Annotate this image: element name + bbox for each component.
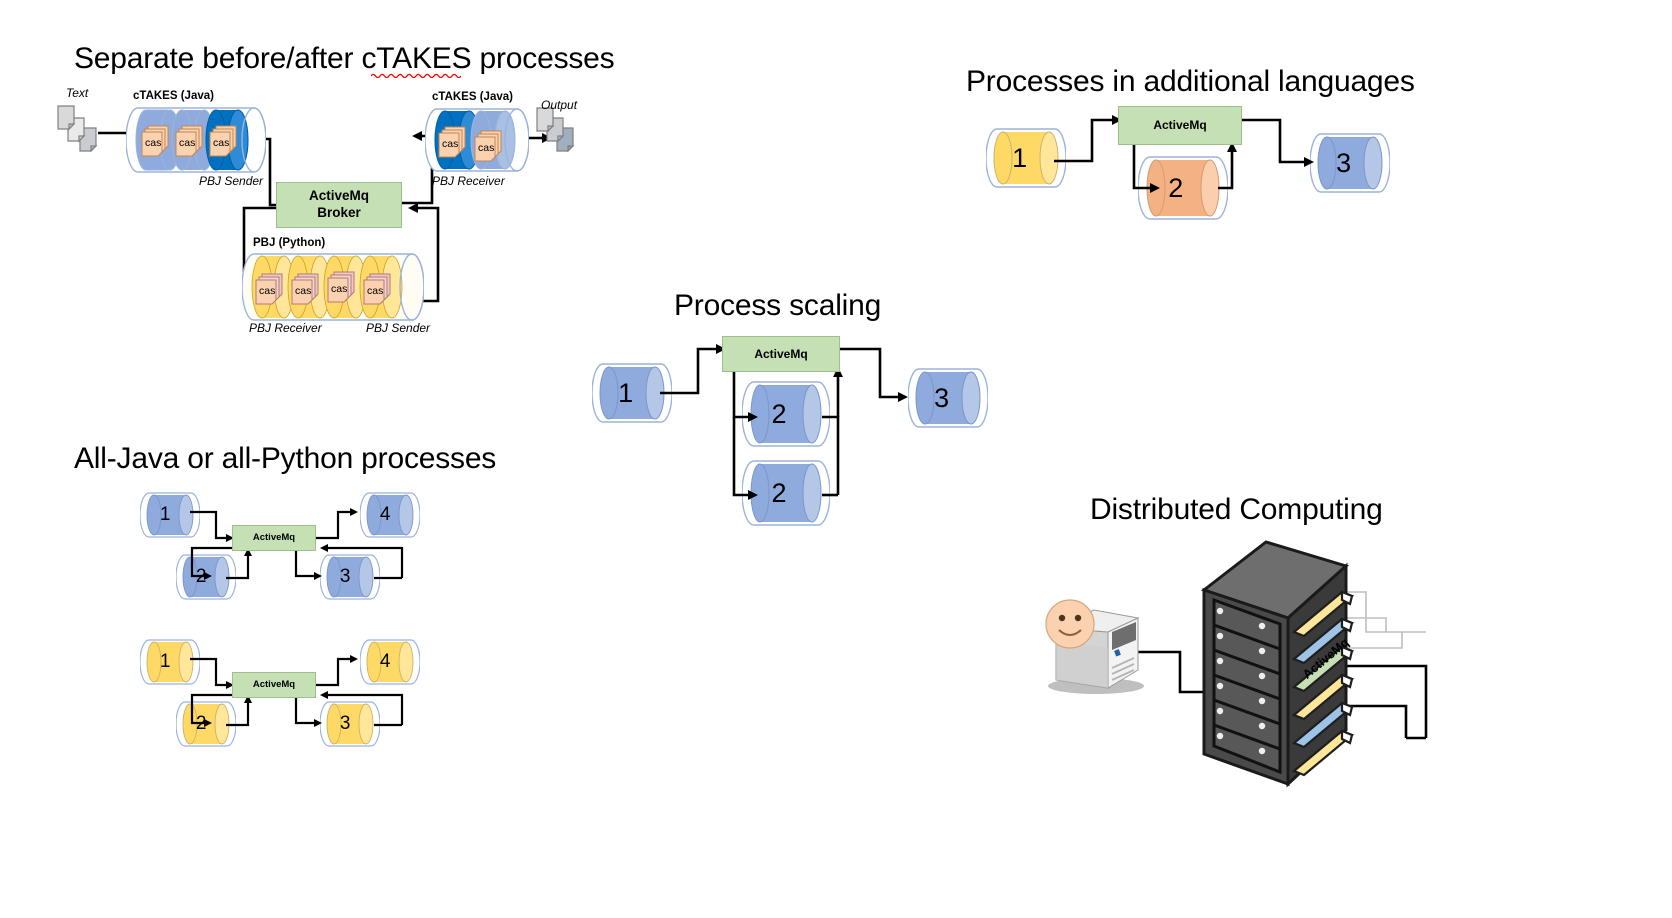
panel-separate-title: Separate before/after cTAKES processes <box>74 42 614 76</box>
input-document-stack: Text <box>56 100 106 172</box>
panel-all-java-python-title: All-Java or all-Python processes <box>74 442 496 476</box>
right-ctakes-label: cTAKES (Java) <box>432 91 513 103</box>
activemq-box[interactable]: ActiveMq <box>232 672 316 698</box>
panel-additional-languages-title: Processes in additional languages <box>966 65 1415 99</box>
output-document-stack: Output <box>535 100 585 172</box>
activemq-box[interactable]: ActiveMq <box>1118 106 1242 145</box>
panel-process-scaling: Process scaling 1 ActiveMq 2 <box>560 275 1030 555</box>
server-rack[interactable]: ActiveMq <box>1196 532 1416 800</box>
activemq-label: ActiveMq <box>1153 118 1206 133</box>
wire-python-node3-to-activemq <box>312 689 406 733</box>
activemq-broker-label-line1: ActiveMq <box>309 188 369 205</box>
activemq-label: ActiveMq <box>253 532 295 544</box>
wire-activemq-to-node3 <box>836 341 922 405</box>
left-ctakes-label: cTAKES (Java) <box>133 90 214 102</box>
user-workstation[interactable] <box>1038 588 1168 698</box>
output-label: Output <box>541 98 577 112</box>
panel-distributed-computing-title: Distributed Computing <box>1090 493 1383 527</box>
activemq-broker-box[interactable]: ActiveMq Broker <box>276 182 402 228</box>
wire-activemq-fanout <box>728 367 772 503</box>
slide-canvas: Separate before/after cTAKES processes T… <box>0 0 1672 918</box>
activemq-label: ActiveMq <box>253 679 295 691</box>
panel-process-scaling-title: Process scaling <box>674 289 881 323</box>
wire-activemq-to-java-node4 <box>312 508 370 546</box>
pbj-python-barrel: cas cas cas cas <box>242 250 424 324</box>
wire-activemq-to-node3 <box>1238 112 1324 170</box>
panel-distributed-computing: Distributed Computing <box>1000 480 1520 820</box>
right-ctakes-barrel: cas cas <box>425 105 529 175</box>
panel-separate-processes: Separate before/after cTAKES processes T… <box>0 0 640 360</box>
panel-all-java-python: All-Java or all-Python processes 1 <box>40 430 560 770</box>
left-ctakes-barrel: cas cas cas <box>126 104 266 176</box>
panel-additional-languages: Processes in additional languages 1 Acti… <box>930 50 1450 240</box>
activemq-label: ActiveMq <box>754 347 807 362</box>
activemq-box[interactable]: ActiveMq <box>722 336 840 372</box>
activemq-broker-label-line2: Broker <box>317 205 361 222</box>
activemq-box[interactable]: ActiveMq <box>232 525 316 551</box>
wire-java-node3-to-activemq <box>312 542 406 586</box>
wire-activemq-to-node2 <box>1128 142 1168 198</box>
wire-activemq-to-python-node4 <box>312 655 370 693</box>
input-label: Text <box>66 86 88 100</box>
wire-node1-to-activemq <box>1054 112 1126 168</box>
